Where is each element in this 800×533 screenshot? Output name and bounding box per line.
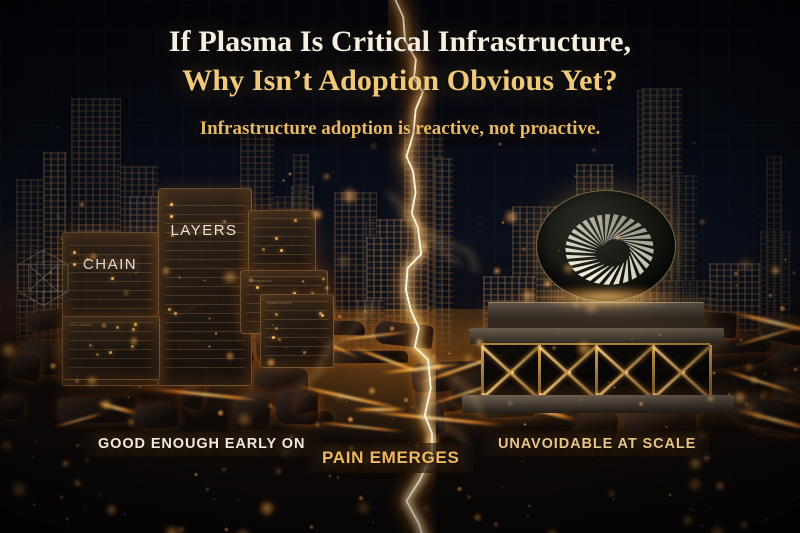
lightning-branch bbox=[295, 304, 372, 389]
caption-unavoidable-at-scale: UNAVOIDABLE AT SCALE bbox=[484, 431, 710, 457]
hero-banner: CHAIN LAYERS CONSENSUS THROUGHPUT SETTLE… bbox=[0, 0, 800, 533]
subheadline: Infrastructure adoption is reactive, not… bbox=[0, 118, 800, 140]
caption-pain-emerges: PAIN EMERGES bbox=[308, 443, 474, 473]
headline-line-2: Why Isn’t Adoption Obvious Yet? bbox=[0, 61, 800, 100]
headline-line-1: If Plasma Is Critical Infrastructure, bbox=[0, 22, 800, 61]
headline-block: If Plasma Is Critical Infrastructure, Wh… bbox=[0, 22, 800, 100]
caption-good-enough-early-on: GOOD ENOUGH EARLY ON bbox=[84, 431, 319, 457]
